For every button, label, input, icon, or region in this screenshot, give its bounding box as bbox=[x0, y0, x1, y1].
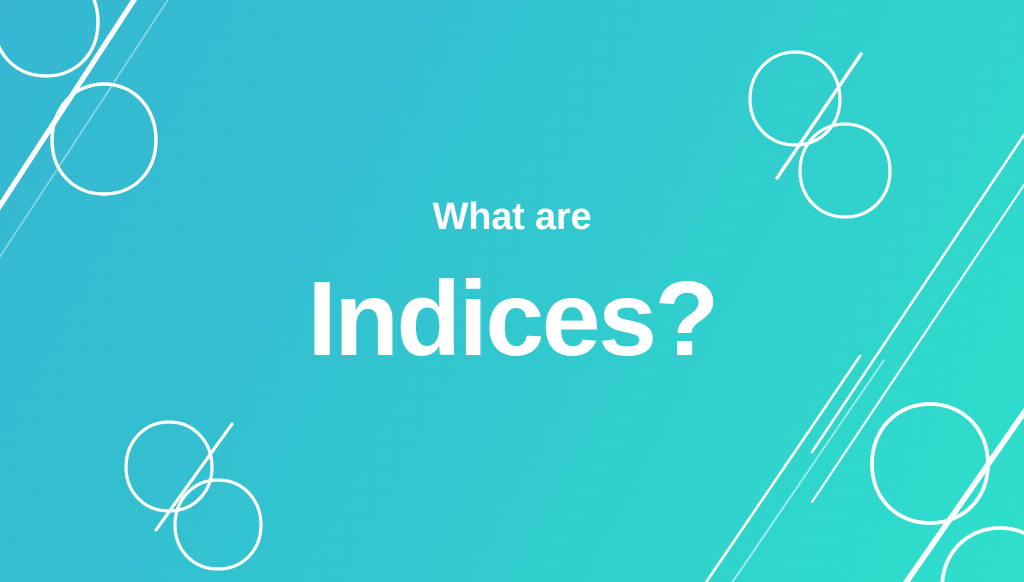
page-title: Indices? bbox=[0, 266, 1024, 372]
eyebrow-text: What are bbox=[0, 196, 1024, 240]
slide-content: What are Indices? bbox=[0, 0, 1024, 582]
slide-canvas: What are Indices? bbox=[0, 0, 1024, 582]
